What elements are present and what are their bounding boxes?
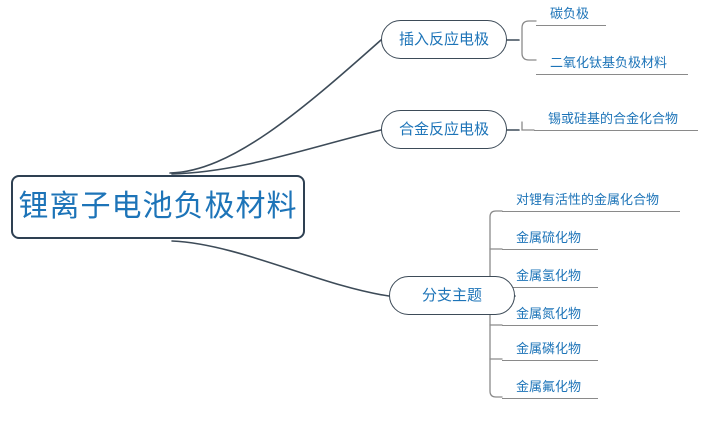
leaf-item[interactable]: 金属硫化物 [502, 229, 598, 250]
leaf-item-label: 金属氢化物 [516, 270, 581, 285]
leaf-item[interactable]: 金属氢化物 [502, 267, 598, 288]
branch-node-insertion-electrode[interactable]: 插入反应电极 [381, 20, 507, 59]
leaf-item[interactable]: 碳负极 [536, 5, 606, 26]
leaf-item[interactable]: 金属氟化物 [502, 378, 598, 399]
root-node-label: 锂离子电池负极材料 [19, 192, 298, 222]
branch-node-sub-topic[interactable]: 分支主题 [389, 276, 515, 315]
leaf-item-label: 二氧化钛基负极材料 [550, 57, 667, 72]
leaf-item-label: 锡或硅基的合金化合物 [548, 113, 678, 128]
leaf-item-label: 金属氮化物 [516, 308, 581, 323]
leaf-item-label: 碳负极 [550, 8, 589, 23]
leaf-item-label: 金属磷化物 [516, 343, 581, 358]
leaf-item-label: 金属氟化物 [516, 381, 581, 396]
leaf-item[interactable]: 金属氮化物 [502, 305, 598, 326]
branch-node-label: 插入反应电极 [399, 32, 489, 47]
branch-node-alloy-electrode[interactable]: 合金反应电极 [381, 110, 507, 149]
leaf-item[interactable]: 二氧化钛基负极材料 [536, 54, 688, 75]
mind-map-canvas: 锂离子电池负极材料 插入反应电极 合金反应电极 分支主题 碳负极 二氧化钛基负极… [0, 0, 706, 429]
connector-root-to-branch-0 [170, 40, 381, 173]
root-node[interactable]: 锂离子电池负极材料 [11, 175, 305, 239]
leaf-item[interactable]: 锡或硅基的合金化合物 [534, 110, 698, 131]
branch-node-label: 合金反应电极 [399, 122, 489, 137]
connector-branch-0-bracket [522, 21, 536, 60]
connector-root-to-branch-2 [172, 241, 389, 296]
leaf-item-label: 金属硫化物 [516, 232, 581, 247]
branch-node-label: 分支主题 [422, 288, 482, 303]
connector-root-to-branch-1 [172, 130, 381, 174]
leaf-item[interactable]: 金属磷化物 [502, 340, 598, 361]
connector-branch-1-bracket [522, 122, 534, 130]
leaf-item-label: 对锂有活性的金属化合物 [516, 194, 659, 209]
leaf-item[interactable]: 对锂有活性的金属化合物 [502, 191, 680, 212]
